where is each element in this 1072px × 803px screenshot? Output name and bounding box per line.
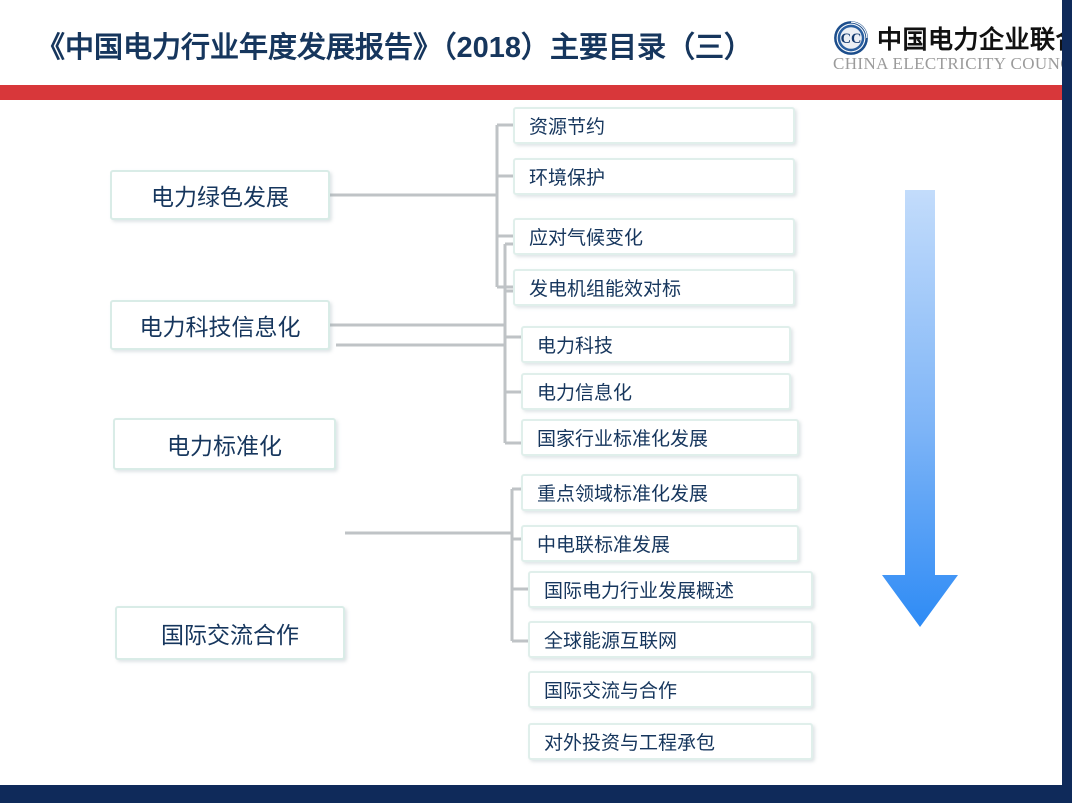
topic-label: 资源节约 <box>529 112 605 139</box>
topic-label: 国家行业标准化发展 <box>537 424 708 451</box>
topic-box-4-3[interactable]: 国际交流与合作 <box>528 671 813 708</box>
topic-label: 环境保护 <box>529 163 605 190</box>
topic-label: 全球能源互联网 <box>544 626 677 653</box>
category-label: 电力绿色发展 <box>151 178 289 212</box>
topic-box-1-1[interactable]: 资源节约 <box>513 107 795 144</box>
category-label: 电力科技信息化 <box>140 308 301 342</box>
down-arrow-icon <box>880 190 960 630</box>
topic-label: 国际电力行业发展概述 <box>544 576 734 603</box>
topic-box-1-3[interactable]: 应对气候变化 <box>513 218 795 255</box>
topic-box-3-2[interactable]: 重点领域标准化发展 <box>521 474 799 511</box>
category-box-3[interactable]: 电力标准化 <box>113 418 336 470</box>
topic-box-2-2[interactable]: 电力信息化 <box>521 373 791 410</box>
category-box-1[interactable]: 电力绿色发展 <box>110 170 330 220</box>
category-box-2[interactable]: 电力科技信息化 <box>110 300 330 350</box>
cec-emblem-icon: CC <box>833 20 869 56</box>
outline-diagram: 电力绿色发展 电力科技信息化 电力标准化 国际交流合作 资源节约 环境保护 应对… <box>0 100 1072 785</box>
category-label: 国际交流合作 <box>161 616 299 650</box>
header-red-divider <box>0 85 1062 100</box>
topic-label: 国际交流与合作 <box>544 676 677 703</box>
topic-box-1-2[interactable]: 环境保护 <box>513 158 795 195</box>
page-title: 《中国电力行业年度发展报告》（2018）主要目录（三） <box>36 24 753 66</box>
topic-label: 电力信息化 <box>537 378 632 405</box>
topic-box-4-1[interactable]: 国际电力行业发展概述 <box>528 571 813 608</box>
footer-navy-bar <box>0 785 1072 803</box>
category-box-4[interactable]: 国际交流合作 <box>115 606 345 660</box>
topic-label: 发电机组能效对标 <box>529 274 681 301</box>
category-label: 电力标准化 <box>167 427 282 461</box>
topic-label: 应对气候变化 <box>529 223 643 250</box>
topic-label: 中电联标准发展 <box>537 530 670 557</box>
topic-label: 重点领域标准化发展 <box>537 479 708 506</box>
slide: 《中国电力行业年度发展报告》（2018）主要目录（三） CC 中国电力企业联合会… <box>0 0 1072 803</box>
logo-english-name: CHINA ELECTRICITY COUNCIL <box>833 54 1072 74</box>
topic-box-1-4[interactable]: 发电机组能效对标 <box>513 269 795 306</box>
topic-box-4-4[interactable]: 对外投资与工程承包 <box>528 723 813 760</box>
topic-box-2-1[interactable]: 电力科技 <box>521 326 791 363</box>
topic-box-3-1[interactable]: 国家行业标准化发展 <box>521 419 799 456</box>
topic-box-3-3[interactable]: 中电联标准发展 <box>521 525 799 562</box>
organization-logo: CC 中国电力企业联合会 CHINA ELECTRICITY COUNCIL <box>833 18 1065 80</box>
slide-header: 《中国电力行业年度发展报告》（2018）主要目录（三） CC 中国电力企业联合会… <box>0 0 1072 85</box>
topic-label: 电力科技 <box>537 331 613 358</box>
topic-label: 对外投资与工程承包 <box>544 728 715 755</box>
logo-chinese-name: 中国电力企业联合会 <box>877 20 1072 56</box>
topic-box-4-2[interactable]: 全球能源互联网 <box>528 621 813 658</box>
svg-text:CC: CC <box>841 31 862 47</box>
